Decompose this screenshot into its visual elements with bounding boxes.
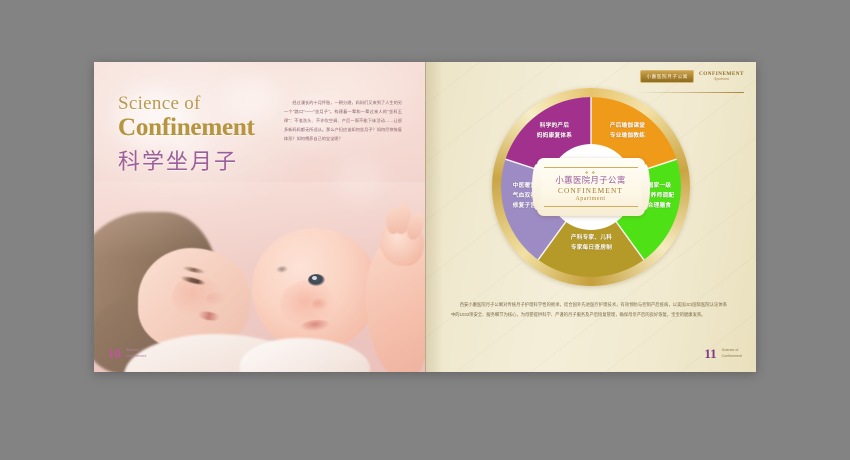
wheel-center-emblem: ❖ ❖ 小蕙医院月子公寓 CONFINEMENT Apartment [537,158,645,216]
wheel-label-daily-ward-rounds: 产科专家、儿科 专家每日查房制 [549,234,635,254]
right-page-header-logo: 小蕙医院月子公寓 CONFINEMENT Apartment [640,70,744,83]
right-body-paragraph: 西安小蕙医院月子公寓对传统月子护理科学性的继承，结合国外先进医疗护理技术，有效预… [451,300,727,320]
emblem-inner: ❖ ❖ 小蕙医院月子公寓 CONFINEMENT Apartment [544,167,638,206]
label-line: 专家每日查房制 [549,244,635,254]
emblem-brand-en-line1: CONFINEMENT [558,187,623,196]
emblem-brand-cn: 小蕙医院月子公寓 [555,176,625,185]
left-body-paragraph: 经过漫长的十月怀胎，一朝分娩，妈妈们又来到了人生的另一个"路口"——"坐月子"。… [284,98,402,143]
right-footer-caption: Science of Confinement [722,348,742,360]
label-line: 产后瑜伽课堂 [590,122,666,132]
label-line: 妈妈康复体系 [518,132,592,142]
footer-caption-line2: Confinement [126,354,146,359]
wheel-label-postnatal-yoga: 产后瑜伽课堂 专业瑜伽教练 [590,122,666,142]
label-line: 产科专家、儿科 [549,234,635,244]
headline-en-line1: Science of [118,94,255,114]
headline-cn: 科学坐月子 [118,144,255,176]
mother-nose [206,292,226,306]
label-line: 专业瑜伽教练 [590,132,666,142]
spread-gutter [425,62,426,372]
header-en-line2: Apartment [699,77,744,81]
service-wheel-diagram: 科学的产后 妈妈康复体系 产后瑜伽课堂 专业瑜伽教练 国家一级 营养师调配 合理… [492,88,690,286]
footer-caption-line2: Confinement [722,354,742,359]
left-headline: Science of Confinement 科学坐月子 [118,94,255,176]
left-footer-caption: Science of Confinement [126,348,146,360]
header-divider-rule [636,92,744,93]
baby-nose [312,298,328,310]
emblem-brand-en-line2: Apartment [575,196,605,203]
headline-en-line2: Confinement [118,114,255,141]
emblem-ornament: ❖ ❖ [585,171,596,175]
label-line: 科学的产后 [518,122,592,132]
left-page: Science of Confinement 科学坐月子 经过漫长的十月怀胎，一… [94,62,425,372]
right-page-footer: 11 Science of Confinement [704,347,742,360]
page-number-left: 10 [108,347,121,360]
header-plate-cn: 小蕙医院月子公寓 [640,70,694,83]
header-logo-en: CONFINEMENT Apartment [699,71,744,82]
left-page-footer: 10 Science of Confinement [108,347,146,360]
page-number-right: 11 [704,347,716,360]
baby-eye [308,274,325,286]
brochure-spread: Science of Confinement 科学坐月子 经过漫长的十月怀胎，一… [94,62,756,372]
wheel-label-postpartum-recovery: 科学的产后 妈妈康复体系 [518,122,592,142]
right-page: 小蕙医院月子公寓 CONFINEMENT Apartment [425,62,756,372]
